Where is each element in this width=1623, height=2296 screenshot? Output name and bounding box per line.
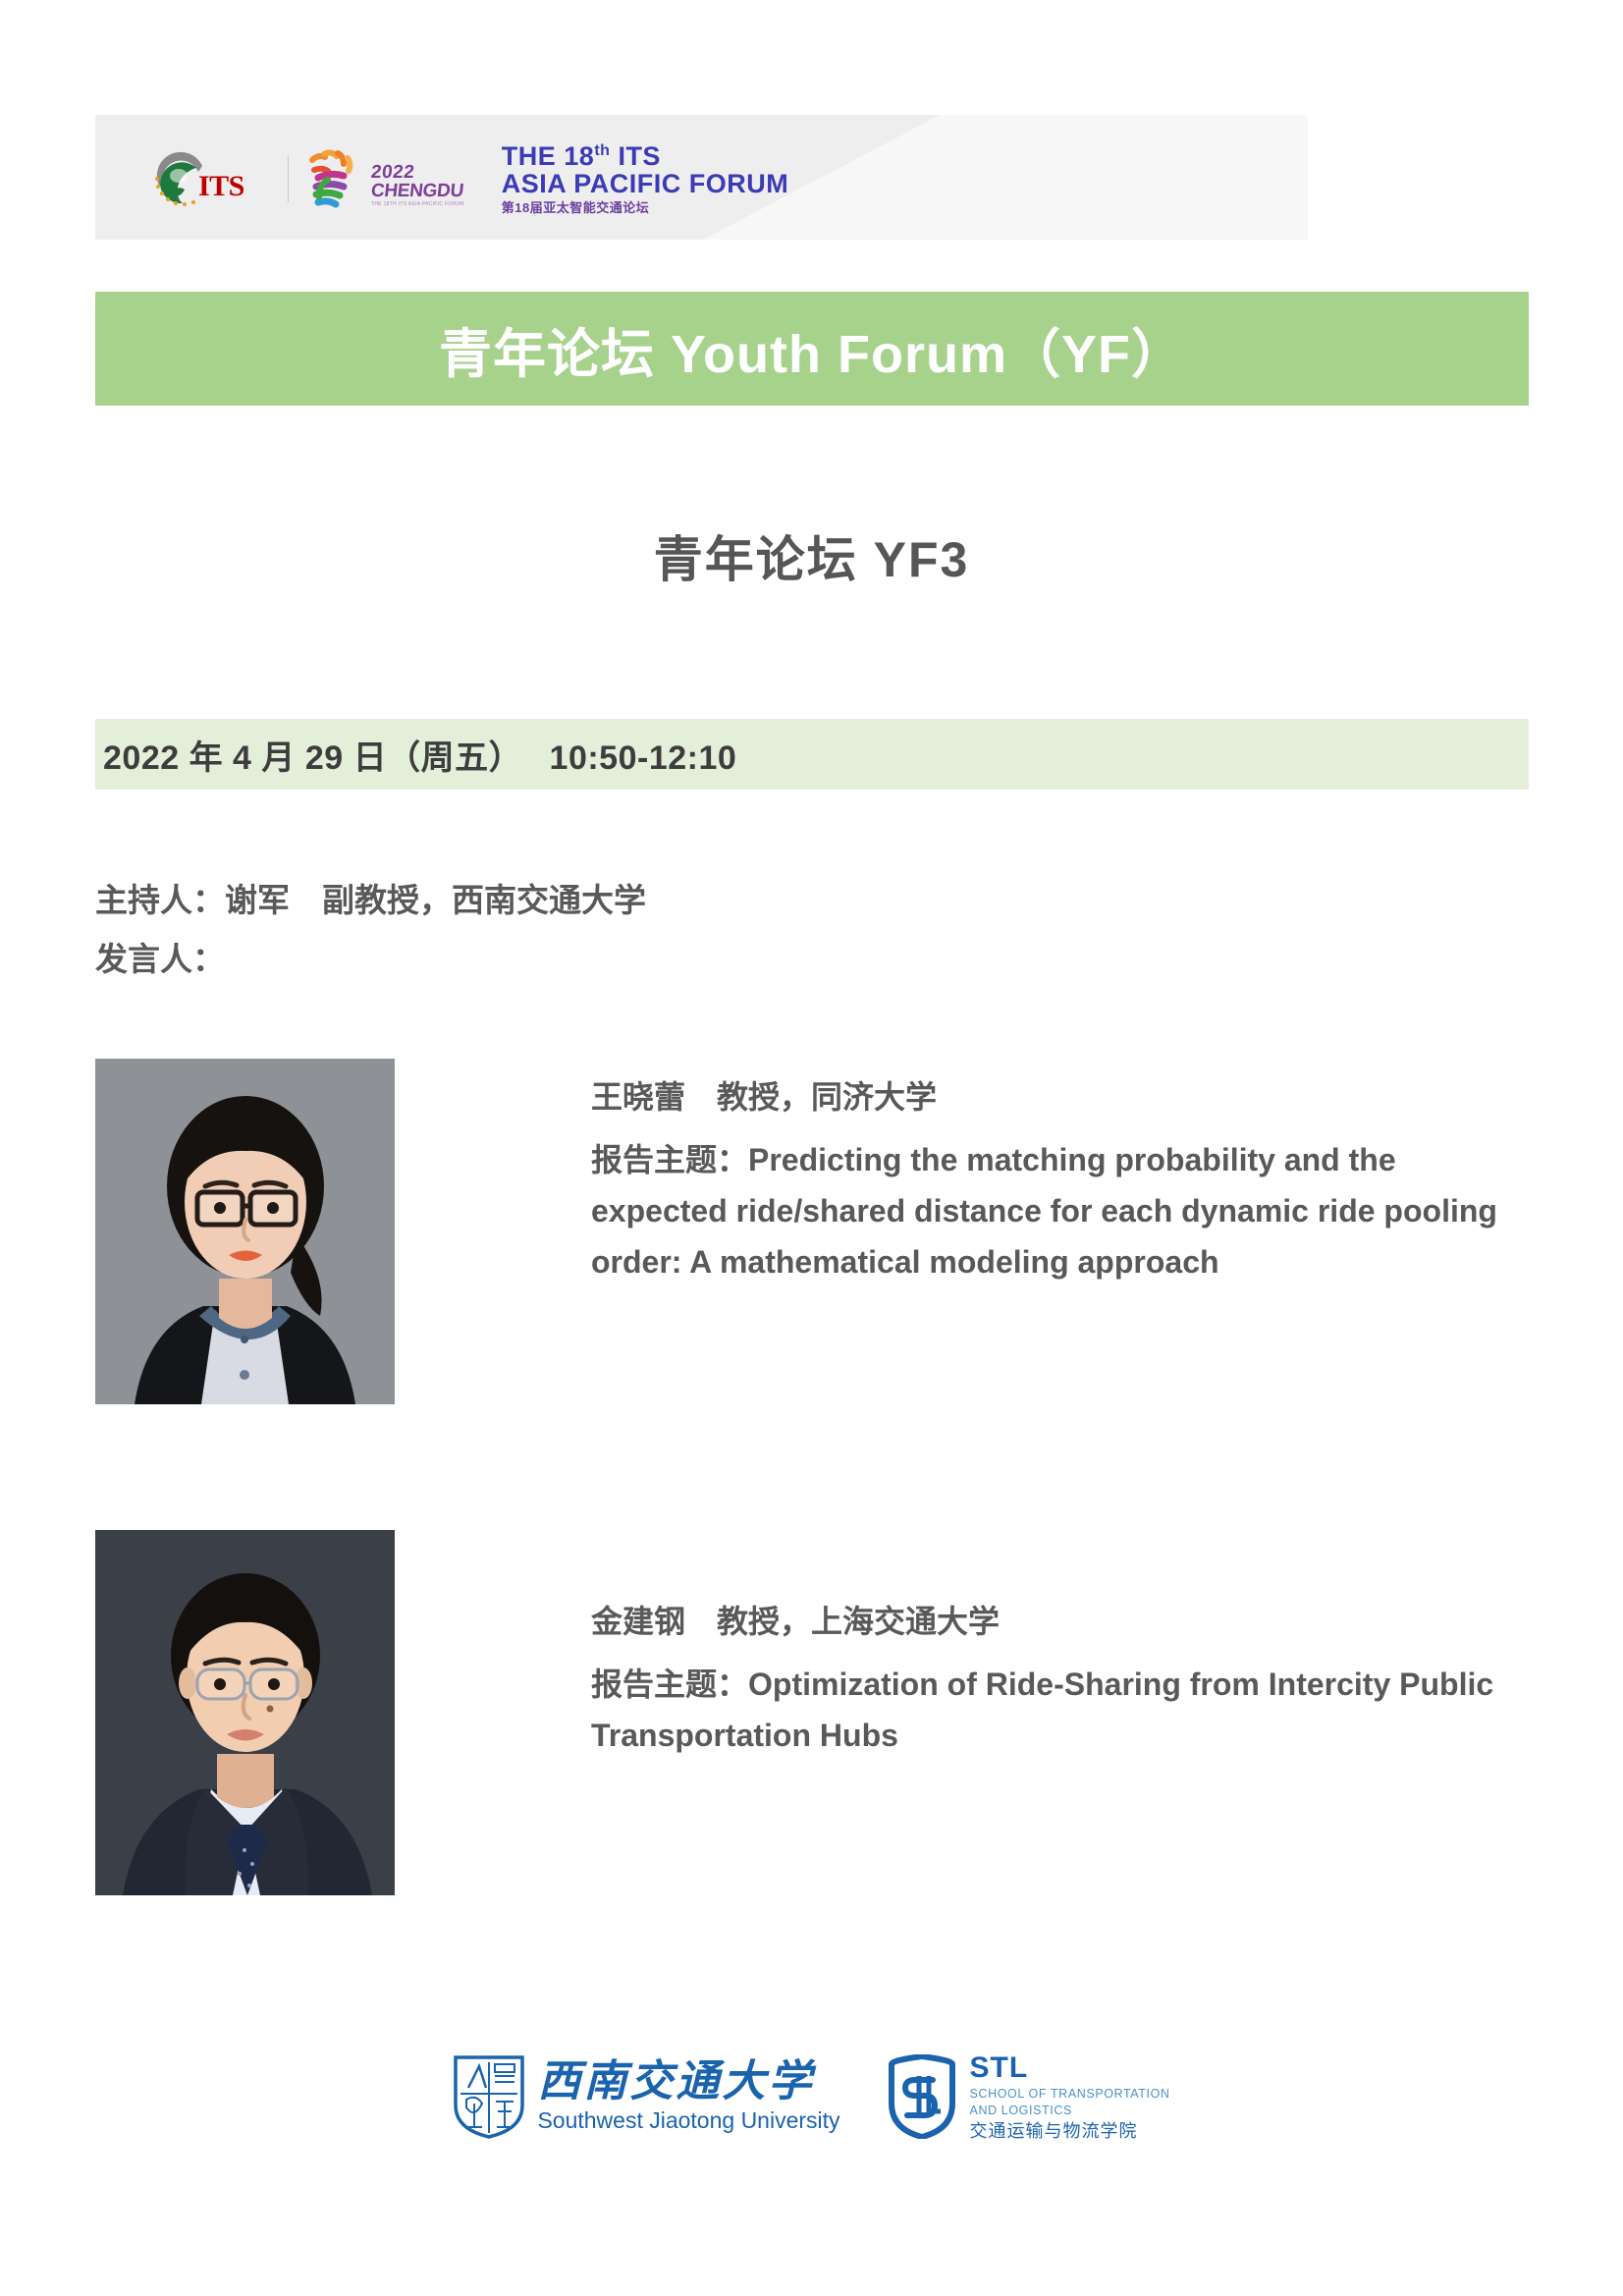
- forum-title-line3-cn: 第18届亚太智能交通论坛: [502, 201, 789, 215]
- youth-forum-banner: 青年论坛 Youth Forum（YF）: [95, 292, 1529, 406]
- swjtu-name-en: Southwest Jiaotong University: [537, 2109, 839, 2132]
- speaker-topic: 报告主题：Predicting the matching probability…: [591, 1135, 1529, 1287]
- stl-name-en-line1: SCHOOL OF TRANSPORTATION: [970, 2088, 1170, 2101]
- swjtu-name-cn: 西南交通大学: [537, 2060, 839, 2104]
- header-logo-group: ITS 2: [149, 142, 788, 214]
- its-globe-icon: [149, 146, 214, 211]
- chengdu-2022-logo: 2022 CHENGDU THE 18TH ITS ASIA PACIFIC F…: [304, 146, 464, 211]
- forum-title-line1: THE 18th ITS: [502, 142, 789, 170]
- youth-forum-banner-title: 青年论坛 Youth Forum（YF）: [439, 310, 1185, 388]
- chengdu-wordmark: 2022 CHENGDU THE 18TH ITS ASIA PACIFIC F…: [371, 163, 464, 207]
- stl-name-cn: 交通运输与物流学院: [970, 2122, 1170, 2141]
- speaker-portrait-2-icon: [95, 1530, 395, 1895]
- speaker-entry: 金建钢 教授，上海交通大学 报告主题：Optimization of Ride-…: [95, 1530, 1529, 1895]
- stl-abbr: STL: [970, 2052, 1170, 2084]
- speaker-topic: 报告主题：Optimization of Ride-Sharing from I…: [591, 1660, 1529, 1762]
- swjtu-wordmark: 西南交通大学 Southwest Jiaotong University: [537, 2060, 839, 2132]
- host-line: 主持人：谢军 副教授，西南交通大学: [95, 874, 646, 921]
- chengdu-city: CHENGDU: [370, 182, 465, 200]
- swjtu-logo: 西南交通大学 Southwest Jiaotong University: [453, 2054, 839, 2139]
- stl-wordmark: STL SCHOOL OF TRANSPORTATION AND LOGISTI…: [970, 2052, 1170, 2141]
- speakers-label: 发言人：: [95, 933, 225, 980]
- stl-name-en-line2: AND LOGISTICS: [970, 2105, 1170, 2117]
- chengdu-sub: THE 18TH ITS ASIA PACIFIC FORUM: [371, 202, 464, 207]
- page-title: 青年论坛 YF3: [0, 520, 1623, 591]
- speaker-portrait-1-icon: [95, 1059, 395, 1404]
- session-datetime-text: 2022 年 4 月 29 日（周五） 10:50-12:10: [103, 731, 736, 779]
- stl-logo: STL SCHOOL OF TRANSPORTATION AND LOGISTI…: [886, 2052, 1170, 2141]
- forum-title-line2: ASIA PACIFIC FORUM: [502, 170, 789, 197]
- speaker-text-block: 王晓蕾 教授，同济大学 报告主题：Predicting the matching…: [591, 1072, 1529, 1287]
- speaker-text-block: 金建钢 教授，上海交通大学 报告主题：Optimization of Ride-…: [591, 1597, 1529, 1762]
- swjtu-shield-icon: [453, 2054, 525, 2139]
- speaker-name: 王晓蕾 教授，同济大学: [591, 1072, 1529, 1118]
- stl-shield-icon: [886, 2054, 958, 2139]
- footer-logo-row: 西南交通大学 Southwest Jiaotong University STL…: [0, 2052, 1623, 2141]
- its-logo: ITS: [149, 143, 272, 214]
- speaker-name: 金建钢 教授，上海交通大学: [591, 1597, 1529, 1642]
- speaker-photo: [95, 1059, 395, 1404]
- session-datetime-bar: 2022 年 4 月 29 日（周五） 10:50-12:10: [95, 719, 1529, 790]
- forum-title-block: THE 18th ITS ASIA PACIFIC FORUM 第18届亚太智能…: [502, 142, 789, 214]
- header-band: ITS 2: [95, 115, 1308, 240]
- chengdu-year: 2022: [370, 163, 465, 182]
- speaker-entry: 王晓蕾 教授，同济大学 报告主题：Predicting the matching…: [95, 1059, 1529, 1404]
- logo-divider: [288, 155, 289, 202]
- speaker-photo: [95, 1530, 395, 1895]
- chengdu-emblem-icon: [304, 146, 367, 211]
